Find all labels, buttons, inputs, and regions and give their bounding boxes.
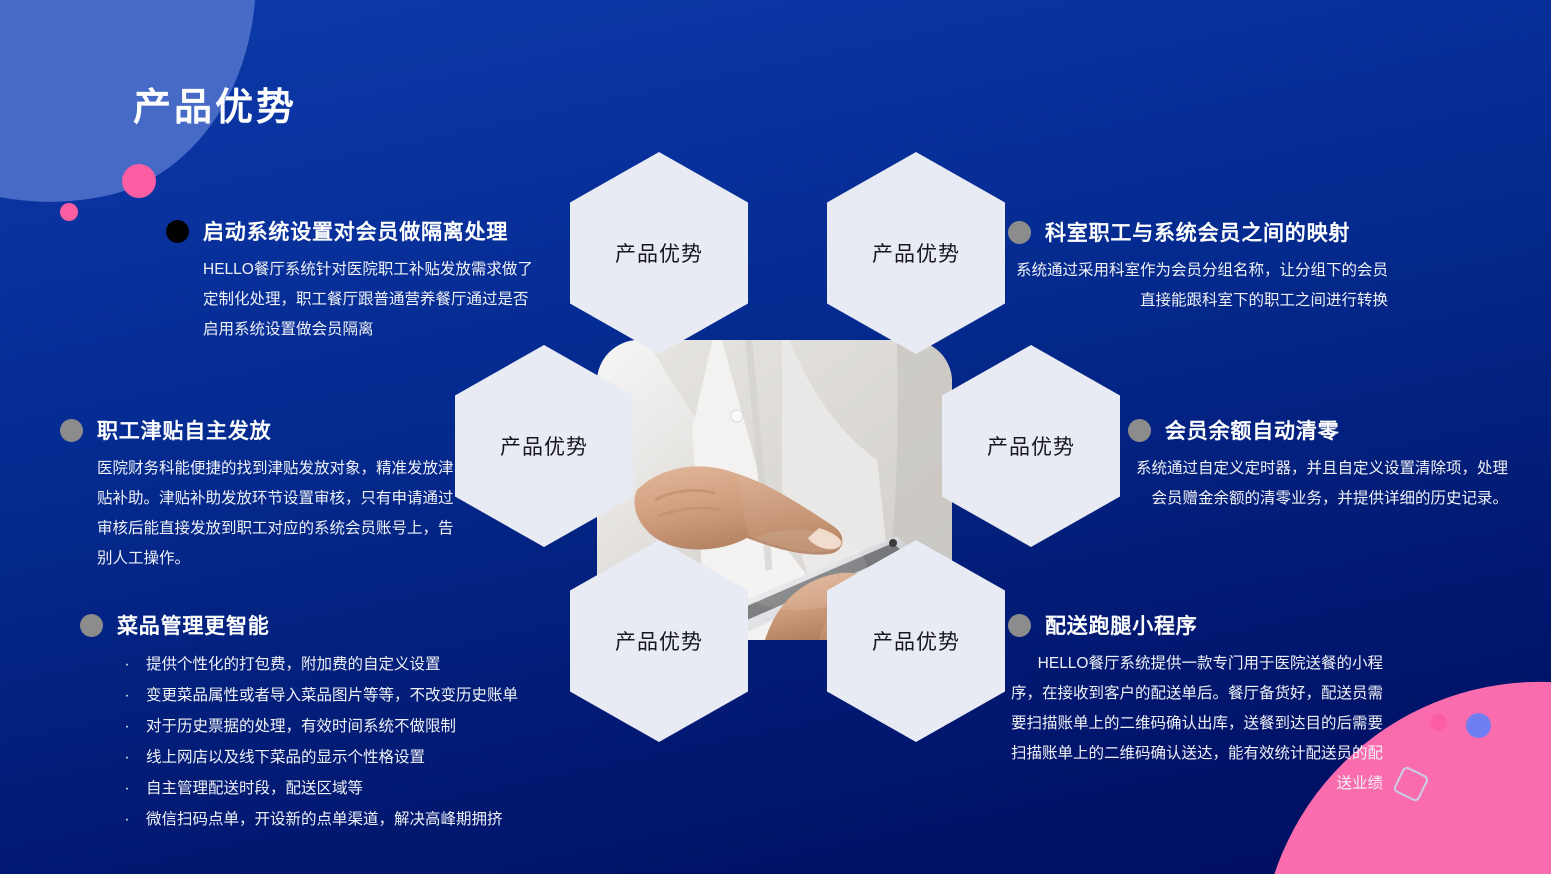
decor-dot-pink-large <box>122 164 156 198</box>
feature-header: 会员余额自动清零 <box>1128 415 1508 445</box>
bullet-marker-icon <box>1128 419 1151 442</box>
bullet-marker-icon <box>1008 221 1031 244</box>
list-item: ·变更菜品属性或者导入菜品图片等等，不改变历史账单 <box>80 680 550 711</box>
feature-title: 科室职工与系统会员之间的映射 <box>1045 217 1350 247</box>
feature-header: 配送跑腿小程序 <box>1008 610 1383 640</box>
feature-body: 医院财务科能便捷的找到津贴发放对象，精准发放津贴补助。津贴补助发放环节设置审核，… <box>60 454 460 574</box>
decor-dot-blue-bottom-right <box>1466 713 1491 738</box>
hexagon-label: 产品优势 <box>987 431 1075 461</box>
list-item-label: 对于历史票据的处理，有效时间系统不做限制 <box>146 711 456 742</box>
feature-block-balance-reset: 会员余额自动清零 系统通过自定义定时器，并且自定义设置清除项，处理会员赠金余额的… <box>1128 415 1508 514</box>
feature-block-isolation: 启动系统设置对会员做隔离处理 HELLO餐厅系统针对医院职工补贴发放需求做了定制… <box>166 216 541 345</box>
decor-dot-pink-bottom-right <box>1430 714 1447 731</box>
hexagon-top-right[interactable]: 产品优势 <box>827 152 1005 354</box>
bullet-marker-icon <box>60 419 83 442</box>
hexagon-label: 产品优势 <box>615 626 703 656</box>
page-title: 产品优势 <box>133 76 297 131</box>
feature-bullet-list: ·提供个性化的打包费，附加费的自定义设置 ·变更菜品属性或者导入菜品图片等等，不… <box>80 649 550 835</box>
feature-body: 系统通过自定义定时器，并且自定义设置清除项，处理会员赠金余额的清零业务，并提供详… <box>1128 454 1508 514</box>
decor-dot-pink-small <box>60 203 78 221</box>
hexagon-cluster: 产品优势 产品优势 产品优势 产品优势 产品优势 产品优势 <box>455 152 1100 772</box>
feature-body: 系统通过采用科室作为会员分组名称，让分组下的会员直接能跟科室下的职工之间进行转换 <box>1008 256 1388 316</box>
bullet-dot-icon: · <box>124 680 130 711</box>
feature-block-staff-member-mapping: 科室职工与系统会员之间的映射 系统通过采用科室作为会员分组名称，让分组下的会员直… <box>1008 217 1388 316</box>
list-item: ·微信扫码点单，开设新的点单渠道，解决高峰期拥挤 <box>80 804 550 835</box>
list-item-label: 微信扫码点单，开设新的点单渠道，解决高峰期拥挤 <box>146 804 503 835</box>
bullet-marker-icon <box>166 220 189 243</box>
feature-block-dish-management: 菜品管理更智能 ·提供个性化的打包费，附加费的自定义设置 ·变更菜品属性或者导入… <box>80 610 550 835</box>
feature-body: HELLO餐厅系统针对医院职工补贴发放需求做了定制化处理，职工餐厅跟普通营养餐厅… <box>166 255 541 345</box>
list-item-label: 提供个性化的打包费，附加费的自定义设置 <box>146 649 441 680</box>
list-item: ·自主管理配送时段，配送区域等 <box>80 773 550 804</box>
hexagon-middle-right[interactable]: 产品优势 <box>942 345 1120 547</box>
list-item-label: 线上网店以及线下菜品的显示个性格设置 <box>146 742 425 773</box>
feature-title: 菜品管理更智能 <box>117 610 270 640</box>
list-item: ·提供个性化的打包费，附加费的自定义设置 <box>80 649 550 680</box>
feature-body: HELLO餐厅系统提供一款专门用于医院送餐的小程序，在接收到客户的配送单后。餐厅… <box>1008 649 1383 799</box>
feature-header: 科室职工与系统会员之间的映射 <box>1008 217 1388 247</box>
feature-header: 启动系统设置对会员做隔离处理 <box>166 216 541 246</box>
list-item-label: 变更菜品属性或者导入菜品图片等等，不改变历史账单 <box>146 680 518 711</box>
hexagon-label: 产品优势 <box>872 626 960 656</box>
bullet-marker-icon <box>1008 614 1031 637</box>
feature-block-allowance: 职工津贴自主发放 医院财务科能便捷的找到津贴发放对象，精准发放津贴补助。津贴补助… <box>60 415 460 574</box>
feature-header: 职工津贴自主发放 <box>60 415 460 445</box>
feature-title: 会员余额自动清零 <box>1165 415 1339 445</box>
feature-header: 菜品管理更智能 <box>80 610 550 640</box>
feature-title: 配送跑腿小程序 <box>1045 610 1198 640</box>
bullet-dot-icon: · <box>124 742 130 773</box>
feature-block-delivery-miniprogram: 配送跑腿小程序 HELLO餐厅系统提供一款专门用于医院送餐的小程序，在接收到客户… <box>1008 610 1383 799</box>
bullet-marker-icon <box>80 614 103 637</box>
bullet-dot-icon: · <box>124 773 130 804</box>
feature-title: 职工津贴自主发放 <box>97 415 271 445</box>
list-item: ·对于历史票据的处理，有效时间系统不做限制 <box>80 711 550 742</box>
feature-title: 启动系统设置对会员做隔离处理 <box>203 216 508 246</box>
list-item-label: 自主管理配送时段，配送区域等 <box>146 773 363 804</box>
slide-canvas: 产品优势 <box>0 0 1551 874</box>
list-item: ·线上网店以及线下菜品的显示个性格设置 <box>80 742 550 773</box>
hexagon-top-left[interactable]: 产品优势 <box>570 152 748 354</box>
hexagon-label: 产品优势 <box>500 431 588 461</box>
hexagon-label: 产品优势 <box>872 238 960 268</box>
hexagon-label: 产品优势 <box>615 238 703 268</box>
bullet-dot-icon: · <box>124 711 130 742</box>
bullet-dot-icon: · <box>124 649 130 680</box>
bullet-dot-icon: · <box>124 804 130 835</box>
